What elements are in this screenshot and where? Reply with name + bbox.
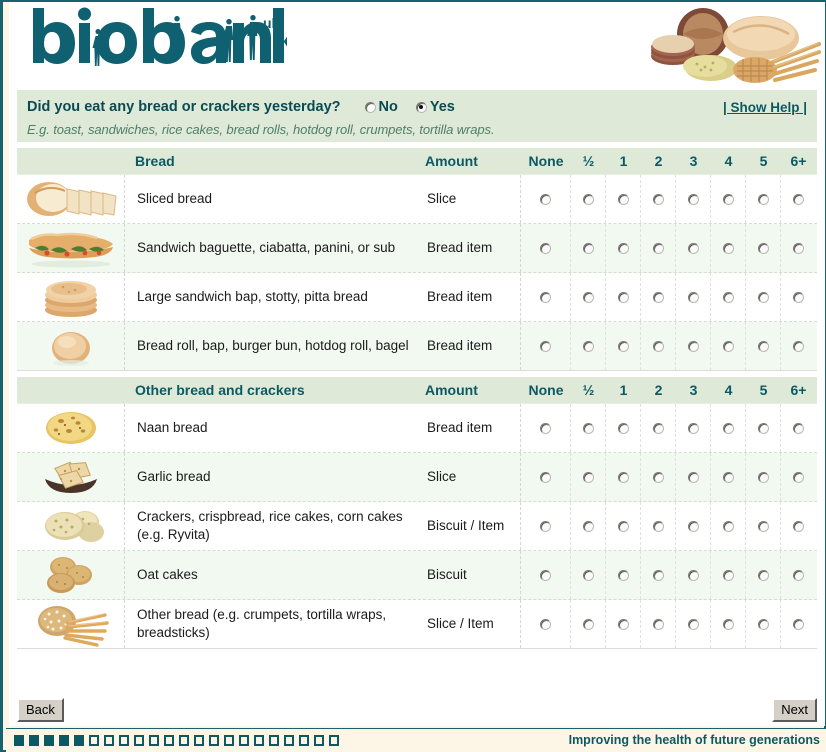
- progress-squares: [14, 735, 339, 746]
- amount-option-none[interactable]: [521, 273, 571, 321]
- amount-option-1[interactable]: [606, 502, 641, 550]
- amount-option-3[interactable]: [676, 175, 711, 223]
- next-button[interactable]: Next: [772, 698, 817, 722]
- food-name: Sliced bread: [125, 175, 425, 223]
- radio-amount-none[interactable]: [540, 423, 551, 434]
- food-name: Garlic bread: [125, 453, 425, 501]
- food-name: Large sandwich bap, stotty, pitta bread: [125, 273, 425, 321]
- radio-amount-5[interactable]: [758, 243, 769, 254]
- pitta-bread-stack-photo: [17, 273, 125, 321]
- option-header-5: 5: [746, 382, 781, 398]
- amount-option-6plus[interactable]: [781, 600, 816, 648]
- radio-amount-none[interactable]: [540, 472, 551, 483]
- radio-amount-none[interactable]: [540, 570, 551, 581]
- table-row: Naan bread Bread item: [17, 404, 817, 453]
- progress-square: [59, 735, 69, 746]
- radio-amount-4[interactable]: [723, 619, 734, 630]
- footer-navigation: Back Next: [9, 696, 825, 726]
- amount-option-3[interactable]: [676, 551, 711, 599]
- radio-amount-half[interactable]: [583, 194, 594, 205]
- progress-square: [209, 735, 219, 746]
- radio-amount-2[interactable]: [653, 619, 664, 630]
- amount-option-half[interactable]: [571, 224, 606, 272]
- amount-option-half[interactable]: [571, 322, 606, 370]
- radio-amount-3[interactable]: [688, 472, 699, 483]
- amount-option-5[interactable]: [746, 502, 781, 550]
- amount-option-5[interactable]: [746, 600, 781, 648]
- baguette-sandwich-photo: [17, 224, 125, 272]
- option-header-3: 3: [676, 153, 711, 169]
- radio-amount-5[interactable]: [758, 341, 769, 352]
- sliced-loaf-photo: [17, 175, 125, 223]
- bread-roll-photo: [17, 322, 125, 370]
- radio-amount-none[interactable]: [540, 619, 551, 630]
- radio-amount-6plus[interactable]: [793, 194, 804, 205]
- question-option-no[interactable]: No: [365, 99, 398, 115]
- page-content: uk: [9, 2, 825, 726]
- section-other-bread-and-crackers: Other bread and crackers Amount None ½ 1…: [17, 377, 817, 649]
- progress-square: [194, 735, 204, 746]
- radio-amount-2[interactable]: [653, 292, 664, 303]
- radio-amount-5[interactable]: [758, 570, 769, 581]
- biobank-logo: uk: [27, 6, 287, 68]
- radio-amount-none[interactable]: [540, 341, 551, 352]
- amount-option-6plus[interactable]: [781, 404, 816, 452]
- radio-amount-3[interactable]: [688, 423, 699, 434]
- table-row: Crackers, crispbread, rice cakes, corn c…: [17, 502, 817, 551]
- amount-option-4[interactable]: [711, 322, 746, 370]
- amount-option-half[interactable]: [571, 273, 606, 321]
- radio-amount-1[interactable]: [618, 472, 629, 483]
- amount-option-half[interactable]: [571, 453, 606, 501]
- radio-yes[interactable]: [416, 102, 427, 113]
- radio-amount-6plus[interactable]: [793, 472, 804, 483]
- amount-option-3[interactable]: [676, 404, 711, 452]
- section-rows-bread: Sliced bread Slice: [17, 174, 817, 371]
- question-text: Did you eat any bread or crackers yester…: [27, 99, 341, 115]
- radio-amount-6plus[interactable]: [793, 341, 804, 352]
- amount-option-6plus[interactable]: [781, 273, 816, 321]
- amount-option-none[interactable]: [521, 551, 571, 599]
- amount-radio-group: [521, 404, 817, 452]
- table-row: Bread roll, bap, burger bun, hotdog roll…: [17, 322, 817, 371]
- radio-amount-half[interactable]: [583, 292, 594, 303]
- option-header-3: 3: [676, 382, 711, 398]
- amount-option-1[interactable]: [606, 404, 641, 452]
- amount-option-none[interactable]: [521, 502, 571, 550]
- radio-amount-4[interactable]: [723, 243, 734, 254]
- section-bread: Bread Amount None ½ 1 2 3 4 5 6+: [17, 148, 817, 371]
- amount-option-2[interactable]: [641, 322, 676, 370]
- radio-amount-3[interactable]: [688, 570, 699, 581]
- radio-amount-5[interactable]: [758, 194, 769, 205]
- radio-amount-none[interactable]: [540, 194, 551, 205]
- radio-amount-half[interactable]: [583, 570, 594, 581]
- amount-radio-group: [521, 224, 817, 272]
- option-header-2: 2: [641, 153, 676, 169]
- amount-option-half[interactable]: [571, 404, 606, 452]
- amount-radio-group: [521, 453, 817, 501]
- radio-amount-half[interactable]: [583, 619, 594, 630]
- amount-option-1[interactable]: [606, 273, 641, 321]
- option-header-none: None: [521, 382, 571, 398]
- progress-square: [74, 735, 84, 746]
- radio-no[interactable]: [365, 102, 376, 113]
- amount-option-4[interactable]: [711, 502, 746, 550]
- amount-radio-group: [521, 551, 817, 599]
- garlic-bread-basket-photo: [17, 453, 125, 501]
- radio-amount-1[interactable]: [618, 570, 629, 581]
- back-button[interactable]: Back: [17, 698, 64, 722]
- amount-unit: Biscuit / Item: [425, 502, 521, 550]
- option-header-none: None: [521, 153, 571, 169]
- radio-amount-5[interactable]: [758, 521, 769, 532]
- question-option-yes[interactable]: Yes: [416, 99, 455, 115]
- amount-option-1[interactable]: [606, 551, 641, 599]
- amount-unit: Bread item: [425, 322, 521, 370]
- amount-option-1[interactable]: [606, 322, 641, 370]
- progress-square: [314, 735, 324, 746]
- amount-unit: Bread item: [425, 224, 521, 272]
- radio-amount-4[interactable]: [723, 194, 734, 205]
- bread-assortment-photo: [633, 4, 823, 88]
- progress-square: [224, 735, 234, 746]
- radio-amount-1[interactable]: [618, 423, 629, 434]
- amount-option-3[interactable]: [676, 224, 711, 272]
- oat-cakes-photo: [17, 551, 125, 599]
- option-header-4: 4: [711, 153, 746, 169]
- amount-option-none[interactable]: [521, 600, 571, 648]
- radio-amount-none[interactable]: [540, 521, 551, 532]
- naan-bread-photo: [17, 404, 125, 452]
- amount-option-6plus[interactable]: [781, 551, 816, 599]
- radio-amount-half[interactable]: [583, 243, 594, 254]
- radio-amount-5[interactable]: [758, 472, 769, 483]
- amount-option-none[interactable]: [521, 322, 571, 370]
- amount-option-4[interactable]: [711, 273, 746, 321]
- amount-unit: Bread item: [425, 404, 521, 452]
- radio-amount-half[interactable]: [583, 521, 594, 532]
- progress-strip: Improving the health of future generatio…: [6, 728, 826, 752]
- amount-option-2[interactable]: [641, 600, 676, 648]
- progress-square: [29, 735, 39, 746]
- amount-option-1[interactable]: [606, 224, 641, 272]
- table-row: Large sandwich bap, stotty, pitta bread …: [17, 273, 817, 322]
- amount-unit: Biscuit: [425, 551, 521, 599]
- radio-amount-4[interactable]: [723, 472, 734, 483]
- amount-option-4[interactable]: [711, 404, 746, 452]
- amount-option-4[interactable]: [711, 600, 746, 648]
- radio-amount-6plus[interactable]: [793, 619, 804, 630]
- masthead: uk: [9, 2, 825, 90]
- radio-amount-1[interactable]: [618, 292, 629, 303]
- amount-radio-group: [521, 502, 817, 550]
- show-help-link[interactable]: | Show Help |: [723, 100, 807, 115]
- progress-square: [254, 735, 264, 746]
- radio-amount-3[interactable]: [688, 292, 699, 303]
- radio-amount-2[interactable]: [653, 341, 664, 352]
- food-name: Sandwich baguette, ciabatta, panini, or …: [125, 224, 425, 272]
- amount-radio-group: [521, 600, 817, 648]
- radio-amount-half[interactable]: [583, 472, 594, 483]
- option-header-2: 2: [641, 382, 676, 398]
- amount-option-2[interactable]: [641, 453, 676, 501]
- progress-square: [149, 735, 159, 746]
- food-name: Oat cakes: [125, 551, 425, 599]
- option-header-4: 4: [711, 382, 746, 398]
- amount-radio-group: [521, 273, 817, 321]
- table-row: Sandwich baguette, ciabatta, panini, or …: [17, 224, 817, 273]
- progress-square: [299, 735, 309, 746]
- question-block: Did you eat any bread or crackers yester…: [17, 90, 817, 142]
- amount-option-2[interactable]: [641, 551, 676, 599]
- radio-amount-5[interactable]: [758, 619, 769, 630]
- amount-option-4[interactable]: [711, 453, 746, 501]
- amount-option-half[interactable]: [571, 502, 606, 550]
- amount-radio-group: [521, 175, 817, 223]
- section-header-bread: Bread Amount None ½ 1 2 3 4 5 6+: [17, 148, 817, 174]
- radio-amount-3[interactable]: [688, 341, 699, 352]
- question-row: Did you eat any bread or crackers yester…: [27, 96, 807, 118]
- progress-square: [269, 735, 279, 746]
- radio-amount-1[interactable]: [618, 619, 629, 630]
- radio-amount-none[interactable]: [540, 292, 551, 303]
- amount-option-5[interactable]: [746, 273, 781, 321]
- section-title: Bread: [125, 153, 425, 169]
- radio-amount-6plus[interactable]: [793, 292, 804, 303]
- amount-option-3[interactable]: [676, 453, 711, 501]
- amount-option-2[interactable]: [641, 224, 676, 272]
- radio-amount-5[interactable]: [758, 292, 769, 303]
- radio-amount-none[interactable]: [540, 243, 551, 254]
- amount-column-header: Amount: [425, 153, 521, 169]
- progress-square: [239, 735, 249, 746]
- amount-unit: Slice: [425, 453, 521, 501]
- amount-option-6plus[interactable]: [781, 322, 816, 370]
- logo-superscript-text: uk: [263, 15, 280, 31]
- amount-option-2[interactable]: [641, 404, 676, 452]
- radio-amount-4[interactable]: [723, 570, 734, 581]
- amount-option-6plus[interactable]: [781, 453, 816, 501]
- radio-amount-6plus[interactable]: [793, 521, 804, 532]
- progress-square: [164, 735, 174, 746]
- food-name: Crackers, crispbread, rice cakes, corn c…: [125, 502, 425, 550]
- food-name: Bread roll, bap, burger bun, hotdog roll…: [125, 322, 425, 370]
- radio-amount-2[interactable]: [653, 194, 664, 205]
- radio-amount-4[interactable]: [723, 292, 734, 303]
- option-column-headers: None ½ 1 2 3 4 5 6+: [521, 382, 817, 398]
- amount-option-3[interactable]: [676, 322, 711, 370]
- amount-option-2[interactable]: [641, 273, 676, 321]
- amount-option-half[interactable]: [571, 175, 606, 223]
- amount-option-6plus[interactable]: [781, 502, 816, 550]
- table-row: Other bread (e.g. crumpets, tortilla wra…: [17, 600, 817, 649]
- option-header-6plus: 6+: [781, 382, 816, 398]
- radio-amount-6plus[interactable]: [793, 570, 804, 581]
- food-name: Other bread (e.g. crumpets, tortilla wra…: [125, 600, 425, 648]
- amount-option-6plus[interactable]: [781, 224, 816, 272]
- question-option-yes-label: Yes: [430, 99, 455, 115]
- amount-unit: Bread item: [425, 273, 521, 321]
- amount-option-5[interactable]: [746, 322, 781, 370]
- radio-amount-1[interactable]: [618, 243, 629, 254]
- amount-unit: Slice / Item: [425, 600, 521, 648]
- radio-amount-3[interactable]: [688, 243, 699, 254]
- table-row: Oat cakes Biscuit: [17, 551, 817, 600]
- radio-amount-4[interactable]: [723, 423, 734, 434]
- amount-option-1[interactable]: [606, 175, 641, 223]
- radio-amount-2[interactable]: [653, 521, 664, 532]
- amount-option-none[interactable]: [521, 224, 571, 272]
- option-header-5: 5: [746, 153, 781, 169]
- radio-amount-1[interactable]: [618, 521, 629, 532]
- amount-column-header: Amount: [425, 382, 521, 398]
- amount-option-3[interactable]: [676, 600, 711, 648]
- radio-amount-half[interactable]: [583, 341, 594, 352]
- radio-amount-3[interactable]: [688, 194, 699, 205]
- section-title: Other bread and crackers: [125, 382, 425, 398]
- section-header-other: Other bread and crackers Amount None ½ 1…: [17, 377, 817, 403]
- radio-amount-2[interactable]: [653, 243, 664, 254]
- radio-amount-3[interactable]: [688, 521, 699, 532]
- option-header-1: 1: [606, 382, 641, 398]
- amount-option-5[interactable]: [746, 453, 781, 501]
- amount-option-5[interactable]: [746, 175, 781, 223]
- radio-amount-1[interactable]: [618, 341, 629, 352]
- radio-amount-3[interactable]: [688, 619, 699, 630]
- amount-option-5[interactable]: [746, 404, 781, 452]
- radio-amount-5[interactable]: [758, 423, 769, 434]
- option-header-1: 1: [606, 153, 641, 169]
- question-option-no-label: No: [379, 99, 398, 115]
- amount-option-4[interactable]: [711, 551, 746, 599]
- tagline: Improving the health of future generatio…: [569, 733, 820, 747]
- radio-amount-6plus[interactable]: [793, 243, 804, 254]
- amount-option-none[interactable]: [521, 404, 571, 452]
- option-header-half: ½: [571, 382, 606, 398]
- radio-amount-6plus[interactable]: [793, 423, 804, 434]
- amount-option-4[interactable]: [711, 224, 746, 272]
- option-header-half: ½: [571, 153, 606, 169]
- amount-radio-group: [521, 322, 817, 370]
- radio-amount-2[interactable]: [653, 423, 664, 434]
- progress-square: [179, 735, 189, 746]
- progress-square: [89, 735, 99, 746]
- food-name: Naan bread: [125, 404, 425, 452]
- progress-square: [44, 735, 54, 746]
- question-example-text: E.g. toast, sandwiches, rice cakes, brea…: [27, 122, 807, 137]
- amount-unit: Slice: [425, 175, 521, 223]
- progress-square: [104, 735, 114, 746]
- progress-square: [14, 735, 24, 746]
- progress-square: [284, 735, 294, 746]
- option-column-headers: None ½ 1 2 3 4 5 6+: [521, 153, 817, 169]
- amount-option-2[interactable]: [641, 175, 676, 223]
- progress-square: [134, 735, 144, 746]
- amount-option-half[interactable]: [571, 551, 606, 599]
- radio-amount-1[interactable]: [618, 194, 629, 205]
- radio-amount-4[interactable]: [723, 341, 734, 352]
- amount-option-5[interactable]: [746, 551, 781, 599]
- amount-option-1[interactable]: [606, 600, 641, 648]
- amount-option-3[interactable]: [676, 502, 711, 550]
- amount-option-3[interactable]: [676, 273, 711, 321]
- amount-option-6plus[interactable]: [781, 175, 816, 223]
- radio-amount-2[interactable]: [653, 472, 664, 483]
- crumpet-breadsticks-photo: [17, 600, 125, 648]
- amount-option-none[interactable]: [521, 453, 571, 501]
- amount-option-1[interactable]: [606, 453, 641, 501]
- radio-amount-2[interactable]: [653, 570, 664, 581]
- amount-option-4[interactable]: [711, 175, 746, 223]
- amount-option-half[interactable]: [571, 600, 606, 648]
- option-header-6plus: 6+: [781, 153, 816, 169]
- amount-option-none[interactable]: [521, 175, 571, 223]
- progress-square: [329, 735, 339, 746]
- section-rows-other: Naan bread Bread item: [17, 403, 817, 649]
- crackers-photo: [17, 502, 125, 550]
- progress-square: [119, 735, 129, 746]
- table-row: Garlic bread Slice: [17, 453, 817, 502]
- radio-amount-4[interactable]: [723, 521, 734, 532]
- questionnaire-page: uk: [0, 0, 826, 752]
- amount-option-2[interactable]: [641, 502, 676, 550]
- amount-option-5[interactable]: [746, 224, 781, 272]
- radio-amount-half[interactable]: [583, 423, 594, 434]
- table-row: Sliced bread Slice: [17, 175, 817, 224]
